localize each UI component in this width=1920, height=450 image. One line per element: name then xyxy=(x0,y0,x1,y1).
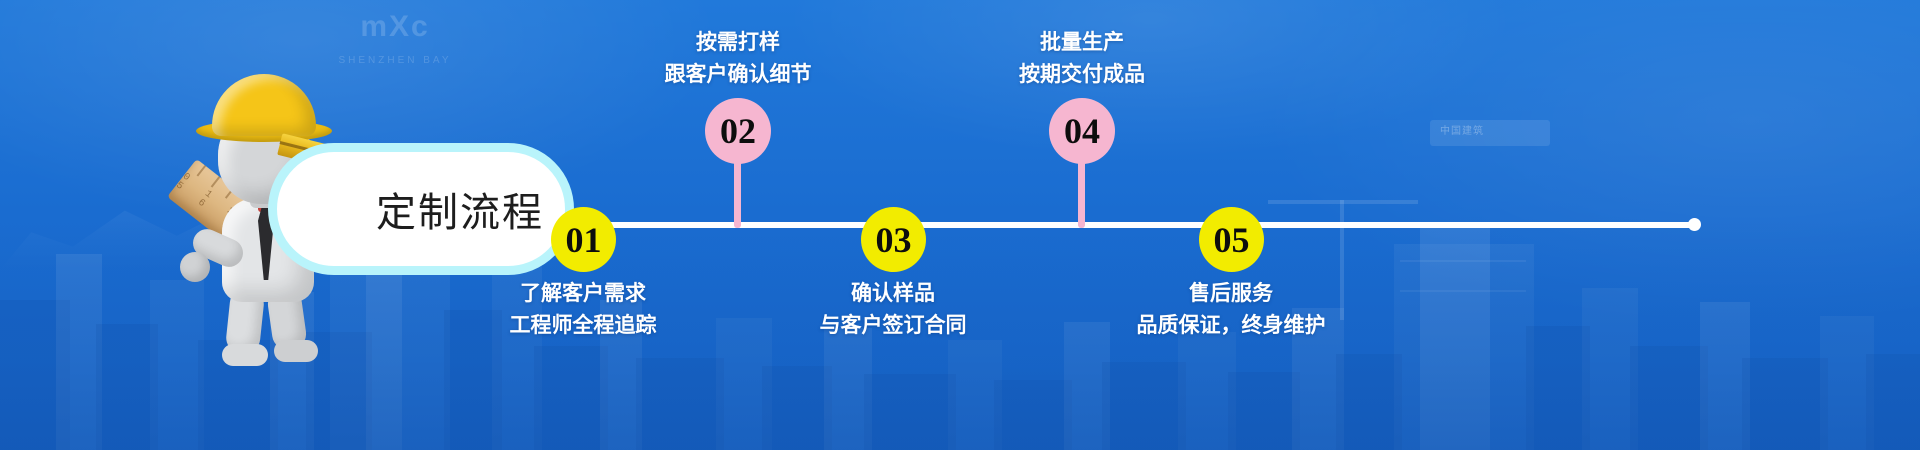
step-line1-05: 售后服务 xyxy=(1189,281,1273,305)
step-line2-02: 跟客户确认细节 xyxy=(598,58,878,90)
step-number-01: 01 xyxy=(566,219,602,261)
watermark-mark: mXc xyxy=(360,10,429,43)
step-text-03: 确认样品 与客户签订合同 xyxy=(753,277,1033,341)
step-line1-04: 批量生产 xyxy=(1040,30,1124,54)
step-text-01: 了解客户需求 工程师全程追踪 xyxy=(443,277,723,341)
step-text-02: 按需打样 跟客户确认细节 xyxy=(598,26,878,90)
step-line2-05: 品质保证，终身维护 xyxy=(1061,309,1401,341)
step-badge-01[interactable]: 01 xyxy=(551,207,616,272)
step-line2-03: 与客户签订合同 xyxy=(753,309,1033,341)
step-badge-03[interactable]: 03 xyxy=(861,207,926,272)
step-badge-05[interactable]: 05 xyxy=(1199,207,1264,272)
step-text-04: 批量生产 按期交付成品 xyxy=(942,26,1222,90)
step-number-04: 04 xyxy=(1064,110,1100,152)
mascot-foot-right xyxy=(274,340,318,362)
step-badge-04[interactable]: 04 xyxy=(1049,98,1115,164)
step-line1-03: 确认样品 xyxy=(851,281,935,305)
custom-process-banner: mXc SHENZHEN BAY 中国建筑 0 1 2 3 4 5 6 xyxy=(0,0,1920,450)
crane-jib-icon xyxy=(1268,200,1418,204)
step-number-02: 02 xyxy=(720,110,756,152)
step-badge-02[interactable]: 02 xyxy=(705,98,771,164)
mascot-foot-left xyxy=(222,344,268,366)
step-number-05: 05 xyxy=(1214,219,1250,261)
step-text-05: 售后服务 品质保证，终身维护 xyxy=(1061,277,1401,341)
hard-hat-icon xyxy=(212,74,316,136)
step-line1-01: 了解客户需求 xyxy=(520,281,646,305)
step-line2-01: 工程师全程追踪 xyxy=(443,309,723,341)
timeline-end-dot xyxy=(1688,218,1701,231)
step-line2-04: 按期交付成品 xyxy=(942,58,1222,90)
right-watermark-label: 中国建筑 xyxy=(1440,126,1530,138)
step-number-03: 03 xyxy=(876,219,912,261)
process-title-label: 定制流程 xyxy=(268,143,574,275)
mascot-hand-left xyxy=(180,252,210,282)
step-line1-02: 按需打样 xyxy=(696,30,780,54)
